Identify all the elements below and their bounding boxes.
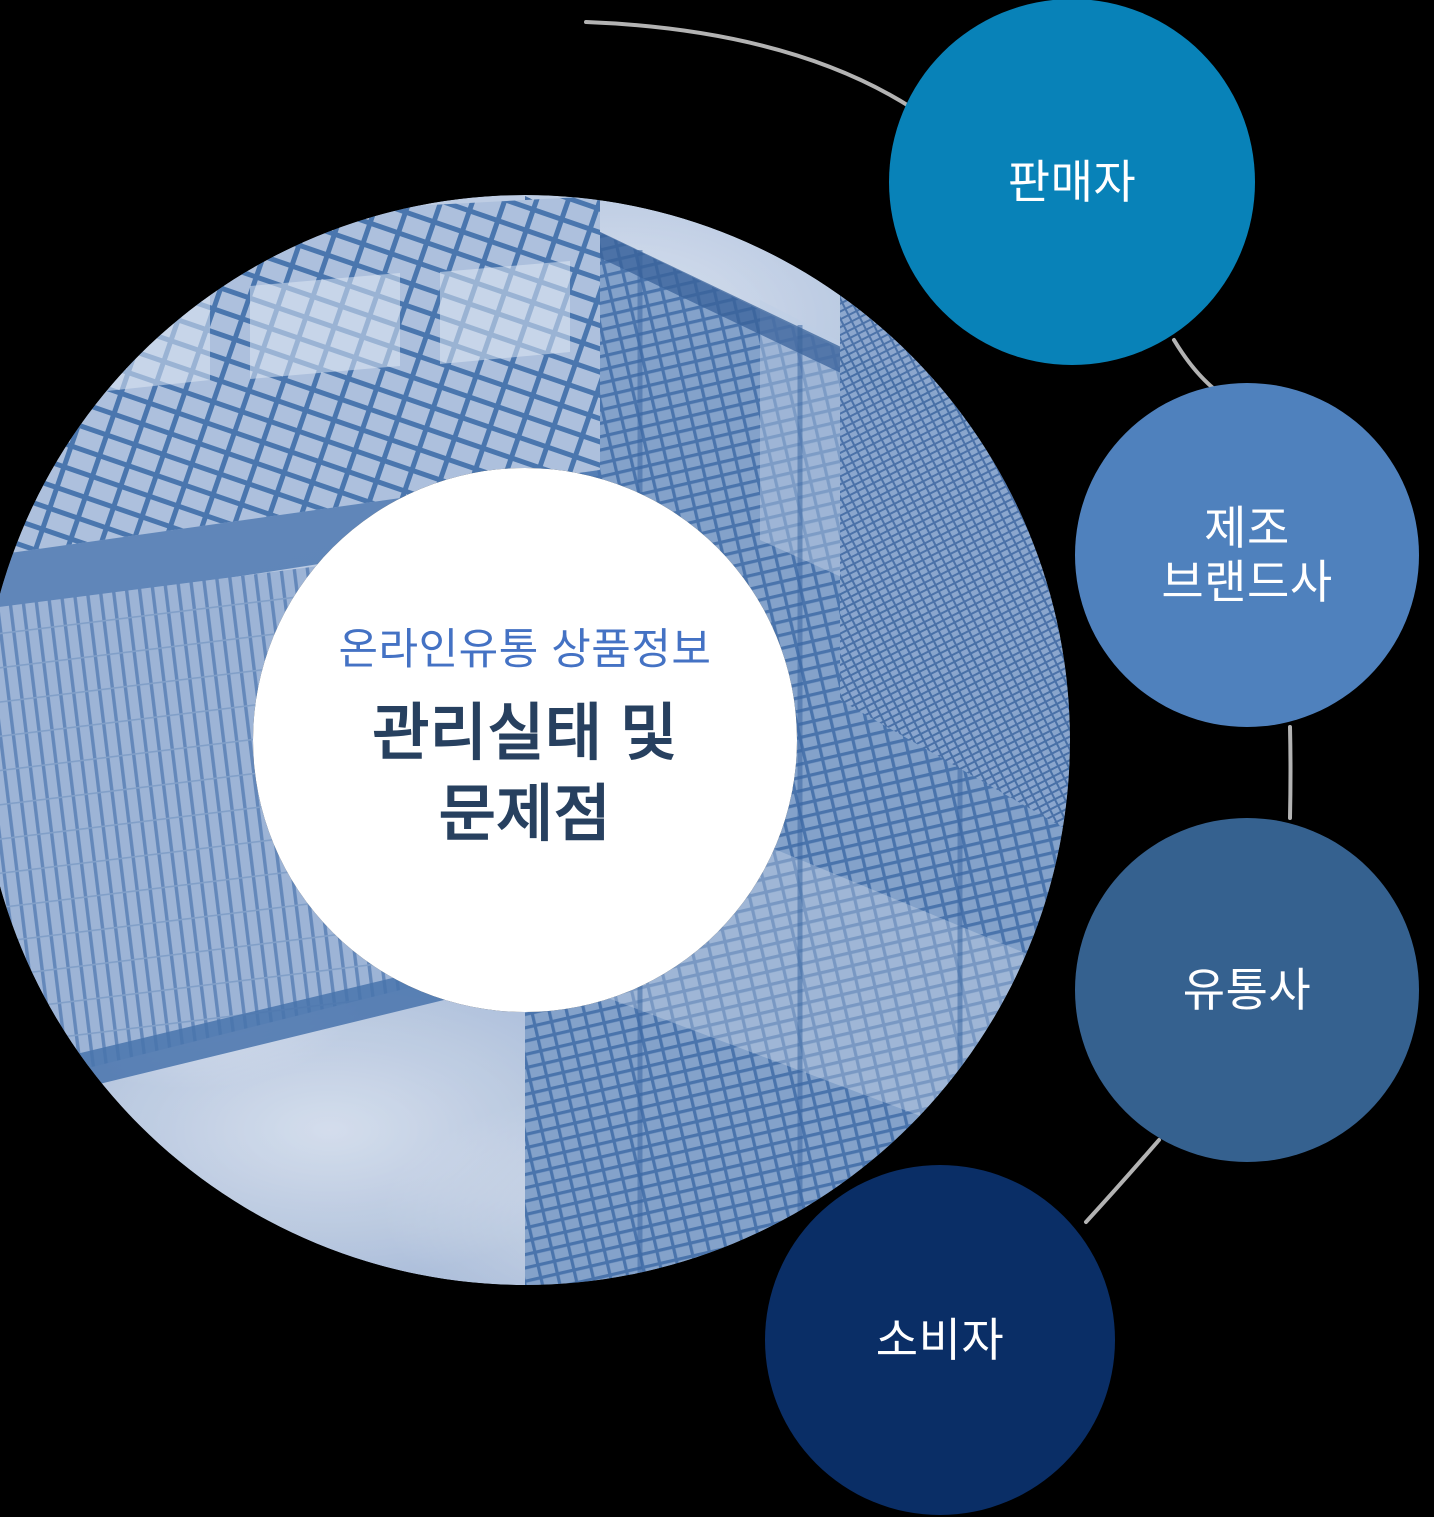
node-label-0: 판매자 xyxy=(998,155,1146,209)
node-label-1: 제조 브랜드사 xyxy=(1151,501,1342,610)
node-label-3: 소비자 xyxy=(866,1313,1014,1367)
node-group: 판매자 제조 브랜드사 유통사 소비자 xyxy=(0,0,1434,1517)
diagram-canvas: 판매자 제조 브랜드사 유통사 소비자 온라인유통 상품정보 관리실태 및 문제… xyxy=(0,0,1434,1517)
node-label-2: 유통사 xyxy=(1173,963,1321,1017)
node-circle-0[interactable]: 판매자 xyxy=(889,0,1255,365)
node-circle-2[interactable]: 유통사 xyxy=(1075,818,1419,1162)
node-circle-1[interactable]: 제조 브랜드사 xyxy=(1075,383,1419,727)
node-circle-3[interactable]: 소비자 xyxy=(765,1165,1115,1515)
